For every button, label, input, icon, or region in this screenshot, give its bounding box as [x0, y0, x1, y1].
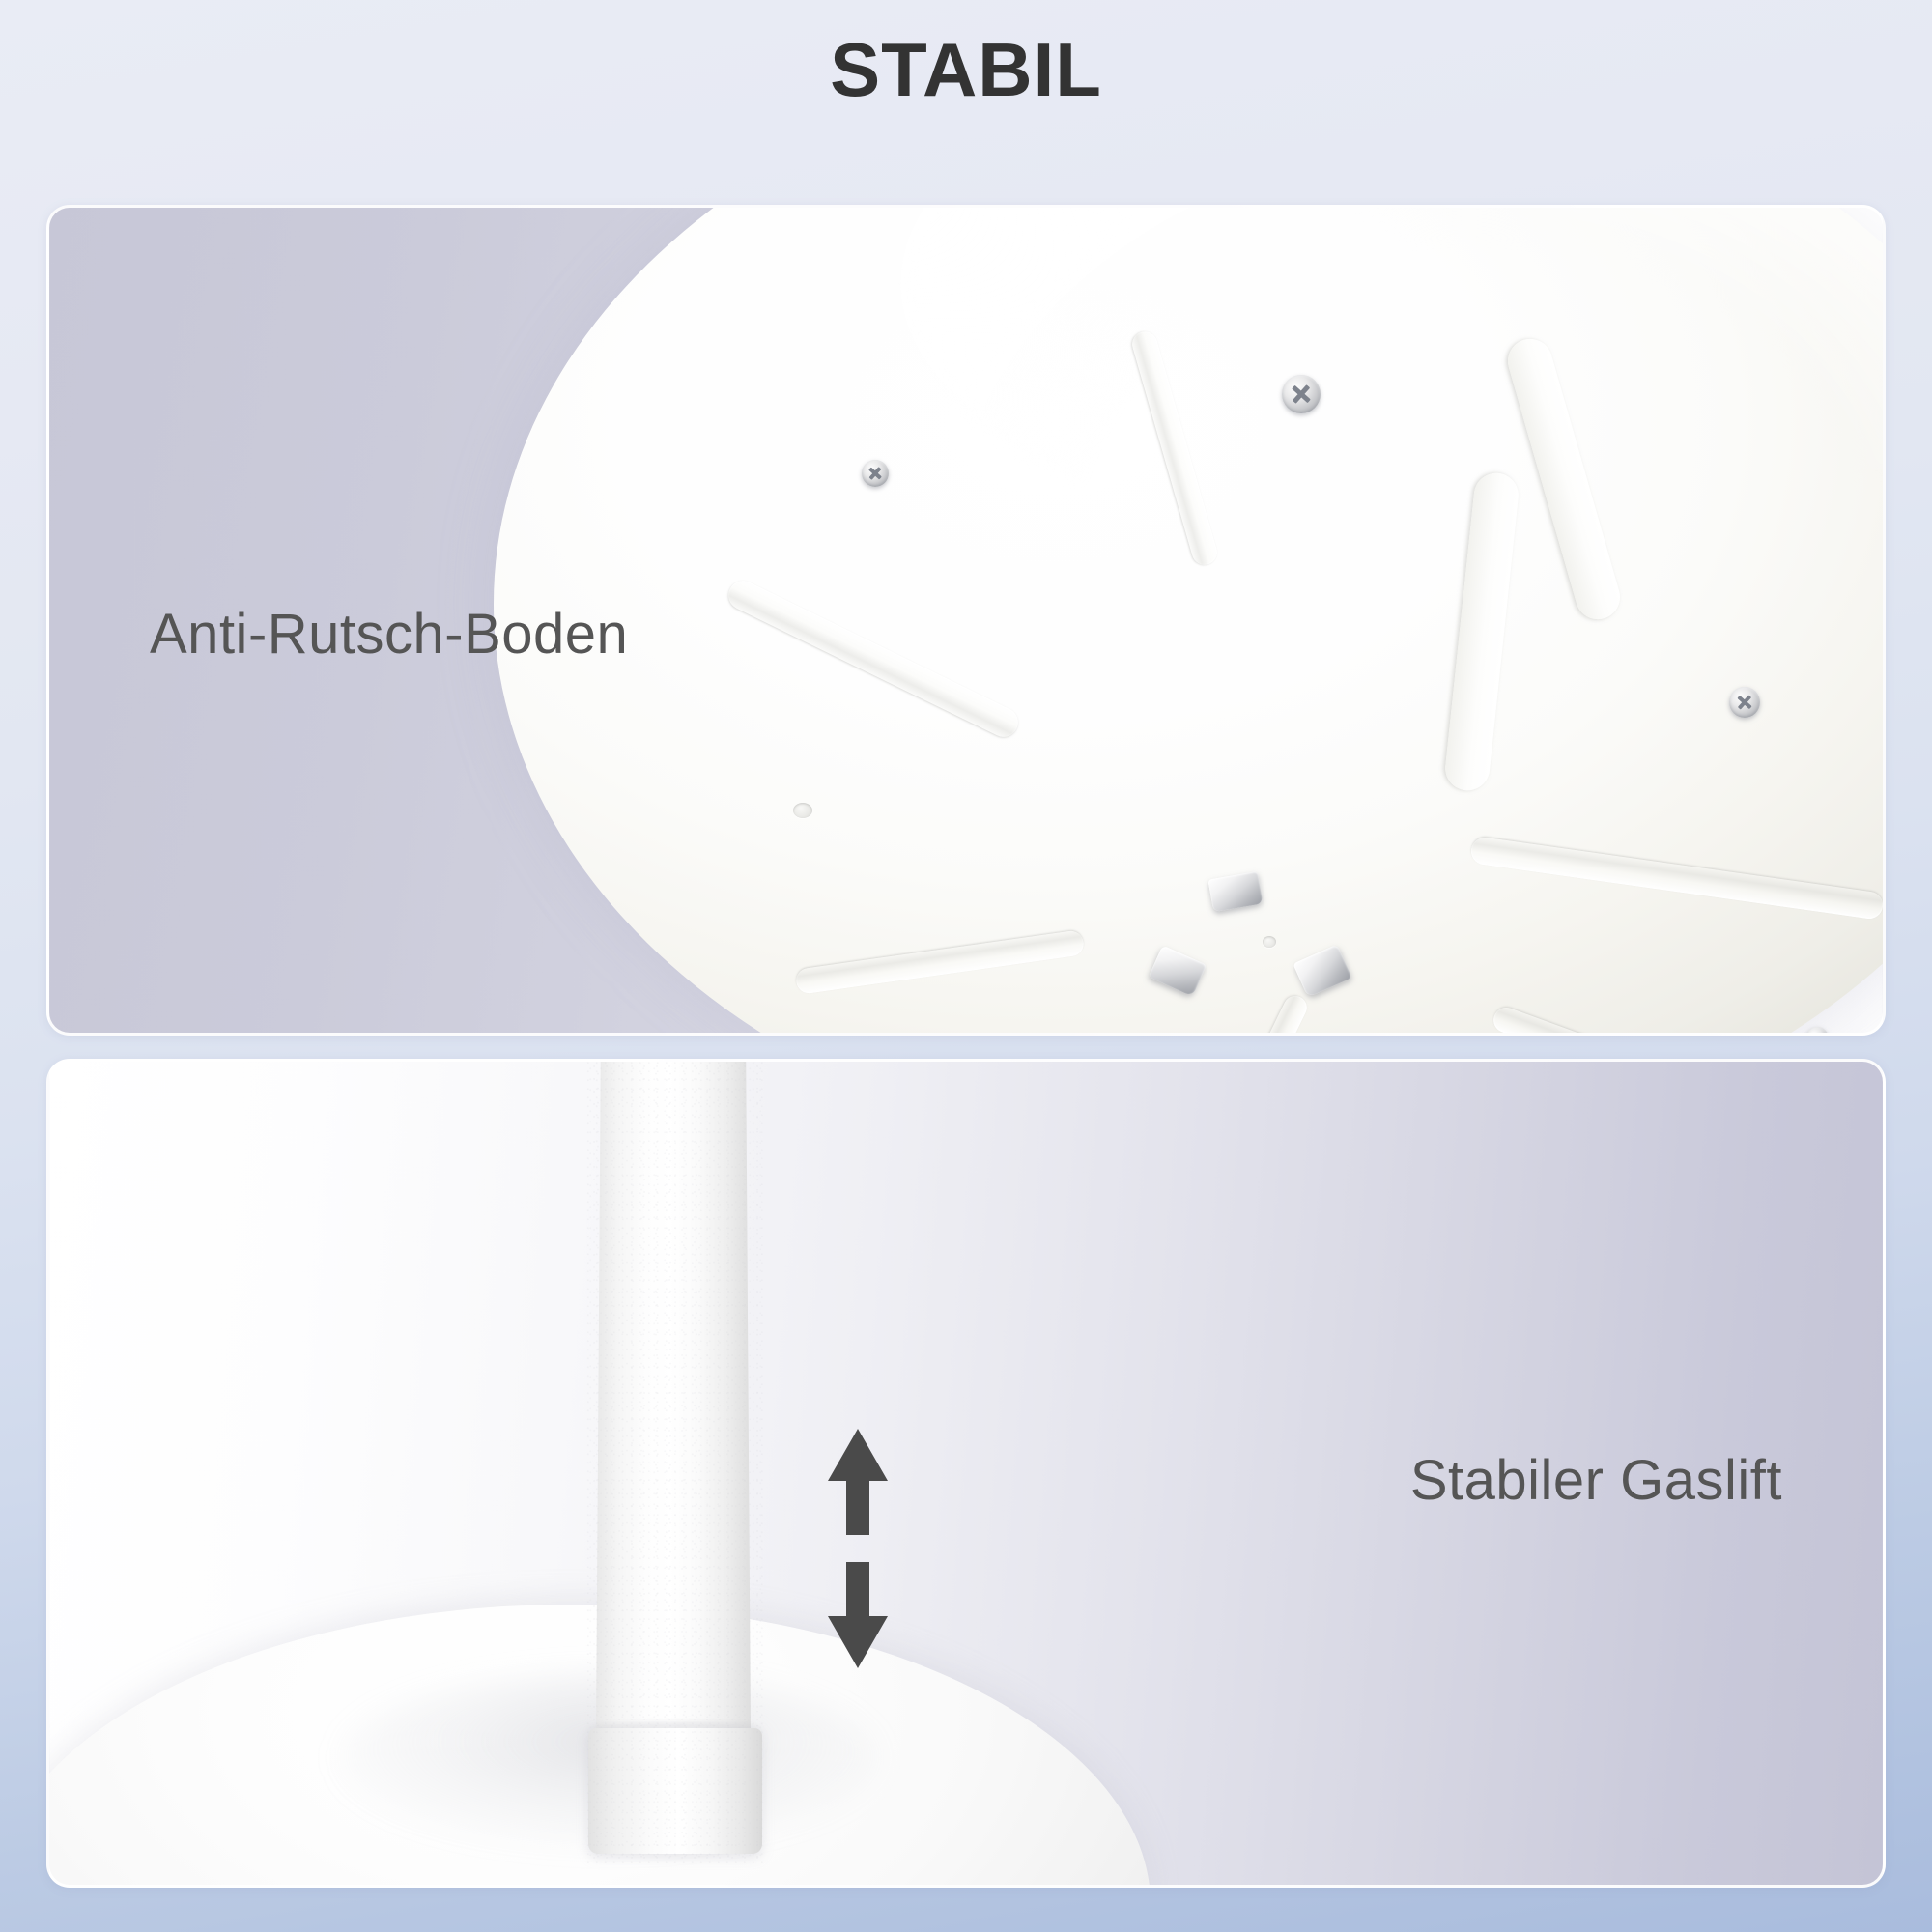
page-title: STABIL: [0, 29, 1932, 112]
panel-anti-slip-floor: Anti-Rutsch-Boden: [46, 205, 1886, 1036]
base-dimple: [1263, 936, 1276, 948]
gaslift-column: [596, 1059, 751, 1734]
phillips-screw-icon: [1729, 687, 1760, 718]
phillips-screw-icon: [862, 460, 889, 487]
panel-label-anti-slip-floor: Anti-Rutsch-Boden: [150, 602, 628, 667]
phillips-screw-icon: [1282, 375, 1321, 413]
arrow-up-icon: [828, 1429, 888, 1535]
panel-stable-gaslift: Stabiler Gaslift: [46, 1059, 1886, 1888]
height-adjust-arrows: [814, 1425, 901, 1672]
base-dimple: [793, 803, 812, 818]
phillips-screw-icon: [1805, 1027, 1829, 1036]
gaslift-sleeve: [588, 1728, 762, 1854]
arrow-down-icon: [828, 1562, 888, 1668]
panel-label-stable-gaslift: Stabiler Gaslift: [1410, 1448, 1782, 1513]
